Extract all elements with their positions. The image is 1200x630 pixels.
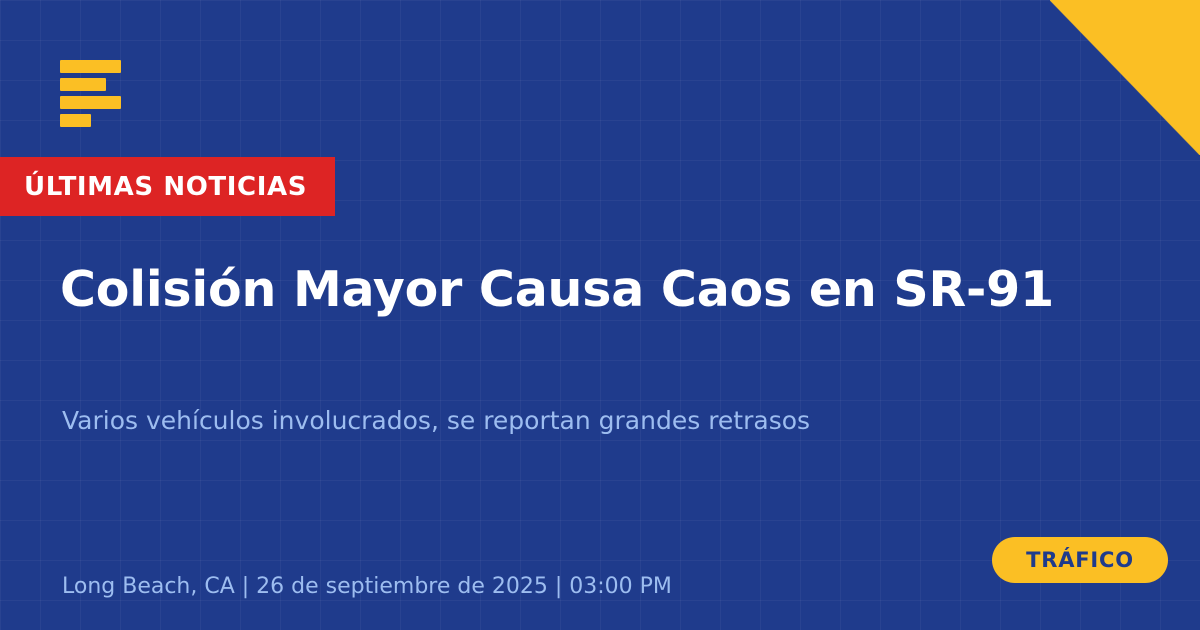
- category-badge: TRÁFICO: [992, 537, 1168, 583]
- footer-meta: Long Beach, CA | 26 de septiembre de 202…: [62, 574, 672, 600]
- logo-bar-2: [60, 78, 106, 91]
- breaking-news-banner: ÚLTIMAS NOTICIAS: [0, 157, 335, 216]
- news-graphic-card: ÚLTIMAS NOTICIAS Colisión Mayor Causa Ca…: [0, 0, 1200, 630]
- breaking-news-label: ÚLTIMAS NOTICIAS: [24, 174, 307, 200]
- category-badge-label: TRÁFICO: [1026, 550, 1134, 571]
- corner-wedge-decoration: [1050, 0, 1200, 155]
- subtitle: Varios vehículos involucrados, se report…: [62, 405, 1062, 438]
- brand-logo: [60, 60, 130, 127]
- logo-bar-4: [60, 114, 91, 127]
- headline: Colisión Mayor Causa Caos en SR-91: [60, 261, 1150, 319]
- logo-bar-3: [60, 96, 121, 109]
- logo-bar-1: [60, 60, 121, 73]
